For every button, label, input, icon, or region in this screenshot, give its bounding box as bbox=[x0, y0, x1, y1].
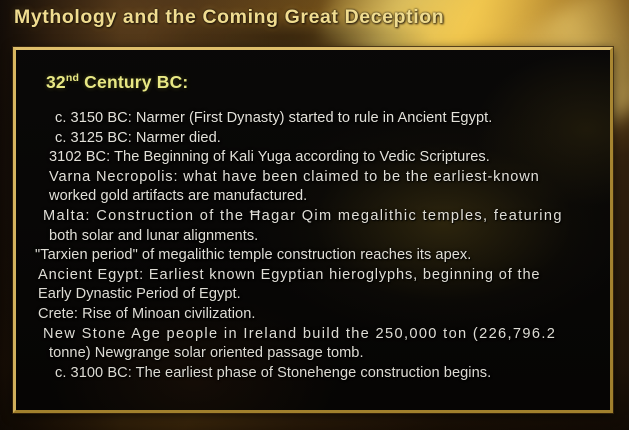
timeline-entry: both solar and lunar alignments. bbox=[35, 227, 602, 247]
timeline-entry: tonne) Newgrange solar oriented passage … bbox=[35, 344, 602, 364]
timeline-entry: c. 3125 BC: Narmer died. bbox=[35, 129, 602, 149]
slide-container: Mythology and the Coming Great Deception… bbox=[0, 0, 629, 430]
timeline-entry: Malta: Construction of the Ħagar Qim meg… bbox=[35, 207, 602, 227]
content-frame: 32nd Century BC: c. 3150 BC: Narmer (Fir… bbox=[13, 47, 613, 413]
timeline-entry: Ancient Egypt: Earliest known Egyptian h… bbox=[35, 266, 602, 286]
content-panel: 32nd Century BC: c. 3150 BC: Narmer (Fir… bbox=[16, 50, 610, 410]
timeline-entry: "Tarxien period" of megalithic temple co… bbox=[35, 246, 602, 266]
heading-ordinal-suffix: nd bbox=[66, 72, 79, 84]
section-heading: 32nd Century BC: bbox=[46, 72, 188, 93]
timeline-entry: 3102 BC: The Beginning of Kali Yuga acco… bbox=[35, 148, 602, 168]
timeline-entry: New Stone Age people in Ireland build th… bbox=[35, 325, 602, 345]
timeline-entry: c. 3150 BC: Narmer (First Dynasty) start… bbox=[35, 109, 602, 129]
heading-rest: Century BC: bbox=[79, 72, 188, 92]
timeline-entry: c. 3100 BC: The earliest phase of Stoneh… bbox=[35, 364, 602, 384]
slide-title: Mythology and the Coming Great Deception bbox=[14, 6, 444, 29]
heading-number: 32 bbox=[46, 72, 66, 92]
timeline-entry: Early Dynastic Period of Egypt. bbox=[35, 285, 602, 305]
timeline-entry: worked gold artifacts are manufactured. bbox=[35, 187, 602, 207]
timeline-entry-list: c. 3150 BC: Narmer (First Dynasty) start… bbox=[35, 109, 602, 383]
timeline-entry: Varna Necropolis: what have been claimed… bbox=[35, 168, 602, 188]
timeline-entry: Crete: Rise of Minoan civilization. bbox=[35, 305, 602, 325]
